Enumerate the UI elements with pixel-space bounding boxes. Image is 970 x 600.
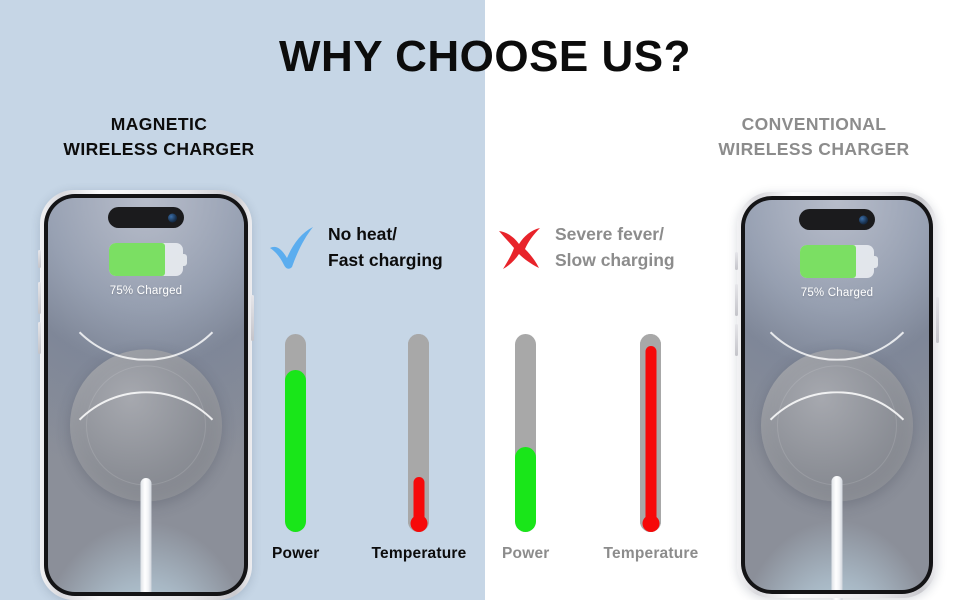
power-gauge-fill [285, 370, 306, 532]
battery-charged-label: 75% Charged [800, 287, 874, 299]
battery-status: 75% Charged [109, 243, 183, 297]
front-camera-icon [859, 215, 868, 224]
right-verdict-text: Severe fever/ Slow charging [555, 222, 675, 274]
temperature-gauge-bulb-icon [642, 515, 659, 532]
left-panel-heading: MAGNETIC WIRELESS CHARGER [18, 112, 300, 163]
power-gauge-fill [515, 447, 536, 532]
battery-icon [800, 245, 874, 278]
left-verdict-callout: No heat/ Fast charging [268, 222, 443, 274]
power-gauge-label: Power [502, 545, 550, 563]
gauge-power-magnetic: Power [272, 334, 320, 563]
battery-icon [109, 243, 183, 276]
front-camera-icon [168, 213, 177, 222]
left-heading-line2: WIRELESS CHARGER [18, 137, 300, 162]
right-heading-line2: WIRELESS CHARGER [668, 137, 960, 162]
power-button-icon [251, 295, 254, 341]
infographic-root: WHY CHOOSE US? WHY CHOOSE US? MAGNETIC W… [0, 0, 970, 600]
left-verdict-line2: Fast charging [328, 250, 443, 270]
left-verdict-text: No heat/ Fast charging [328, 222, 443, 274]
silent-switch-icon [735, 252, 738, 270]
power-gauge-label: Power [272, 545, 320, 563]
volume-up-button-icon [735, 284, 738, 316]
temperature-gauge-track [408, 334, 429, 532]
volume-up-button-icon [38, 282, 41, 314]
gauge-temperature-conventional: Temperature [604, 334, 699, 563]
puck-inner-ring [86, 365, 206, 485]
phone-mockup-magnetic: 75% Charged [40, 190, 252, 600]
power-gauge-track [285, 334, 306, 532]
power-gauge-track [515, 334, 536, 532]
gauge-temperature-magnetic: Temperature [372, 334, 467, 563]
page-title: WHY CHOOSE US? WHY CHOOSE US? [0, 26, 970, 88]
charging-cable [141, 478, 152, 592]
phone-screen: 75% Charged [745, 200, 929, 590]
phone-bezel: 75% Charged [741, 196, 933, 594]
left-verdict-line1: No heat/ [328, 224, 397, 244]
power-button-icon [936, 297, 939, 343]
page-title-text: WHY CHOOSE US? [279, 32, 691, 81]
battery-nub-icon [183, 254, 187, 266]
right-gauges: Power Temperature [502, 334, 698, 563]
right-verdict-callout: Severe fever/ Slow charging [495, 222, 675, 274]
right-verdict-line2: Slow charging [555, 250, 675, 270]
phone-bezel: 75% Charged [44, 194, 248, 596]
left-gauges: Power Temperature [272, 334, 466, 563]
left-heading-line1: MAGNETIC [18, 112, 300, 137]
temperature-gauge-label: Temperature [604, 545, 699, 563]
phone-screen: 75% Charged [48, 198, 244, 592]
gauge-power-conventional: Power [502, 334, 550, 563]
temperature-gauge-label: Temperature [372, 545, 467, 563]
volume-down-button-icon [38, 322, 41, 354]
battery-fill [109, 243, 165, 276]
temperature-gauge-fill [645, 346, 656, 528]
temperature-gauge-track [640, 334, 661, 532]
volume-down-button-icon [735, 324, 738, 356]
charging-cable [832, 476, 843, 590]
right-verdict-line1: Severe fever/ [555, 224, 664, 244]
phone-mockup-conventional: 75% Charged [737, 192, 937, 598]
right-panel-heading: CONVENTIONAL WIRELESS CHARGER [668, 112, 960, 163]
dynamic-island [799, 209, 875, 230]
cross-mark-icon [495, 225, 543, 271]
battery-status: 75% Charged [800, 245, 874, 299]
right-heading-line1: CONVENTIONAL [668, 112, 960, 137]
battery-fill [800, 245, 856, 278]
dynamic-island [108, 207, 184, 228]
battery-nub-icon [874, 256, 878, 268]
battery-charged-label: 75% Charged [109, 285, 183, 297]
temperature-gauge-bulb-icon [410, 515, 427, 532]
check-mark-icon [268, 225, 316, 271]
silent-switch-icon [38, 250, 41, 268]
puck-inner-ring [777, 365, 897, 485]
